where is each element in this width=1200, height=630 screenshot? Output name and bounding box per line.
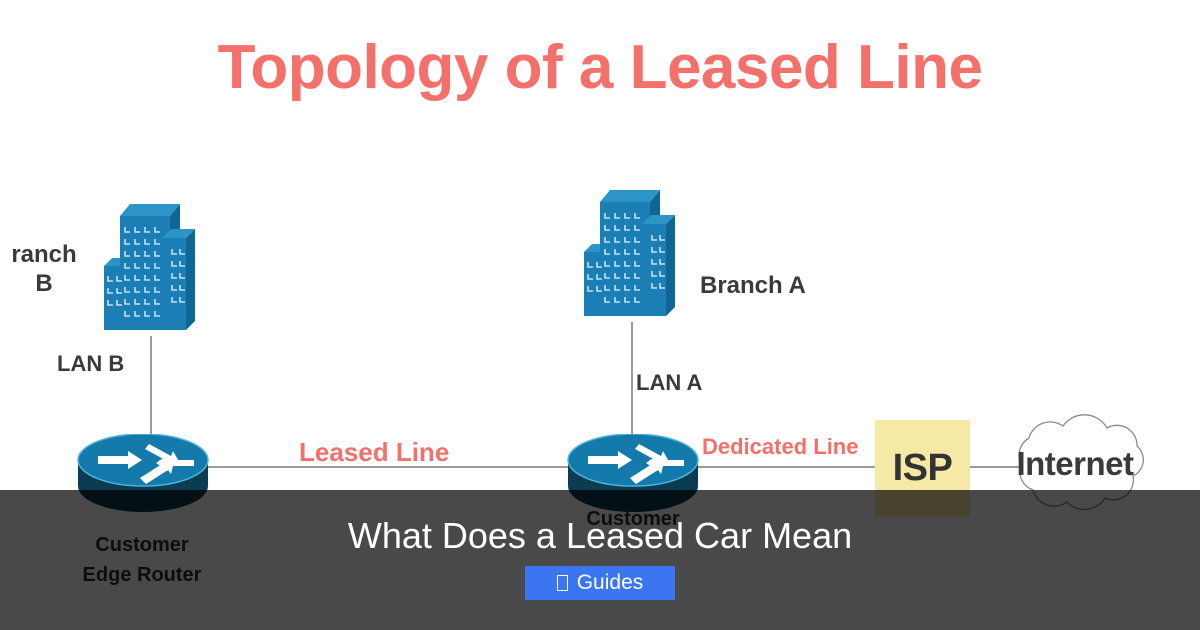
lan-b-label: LAN B [57, 351, 124, 377]
guides-button[interactable]: Guides [525, 566, 675, 600]
dedicated-line-link [686, 466, 882, 468]
branch-a-label: Branch A [700, 272, 806, 300]
branch-a-building-icon [572, 182, 680, 326]
missing-glyph-box-icon [557, 575, 568, 591]
leased-line-label: Leased Line [299, 437, 449, 468]
bottom-overlay [0, 490, 1200, 630]
branch-b-label: ranch B [0, 240, 94, 298]
dedicated-line-label: Dedicated Line [702, 434, 858, 460]
overlay-headline: What Does a Leased Car Mean [0, 515, 1200, 557]
branch-b-label-line1: ranch [0, 240, 94, 269]
guides-button-label: Guides [577, 571, 644, 595]
branch-b-building-icon [92, 196, 200, 340]
isp-label: ISP [893, 447, 953, 490]
lan-a-label: LAN A [636, 370, 702, 396]
branch-b-label-line2: B [0, 269, 94, 298]
screenshot-root: Topology of a Leased Line [0, 0, 1200, 630]
page-title: Topology of a Leased Line [0, 32, 1200, 103]
lan-a-link-line [631, 322, 633, 449]
